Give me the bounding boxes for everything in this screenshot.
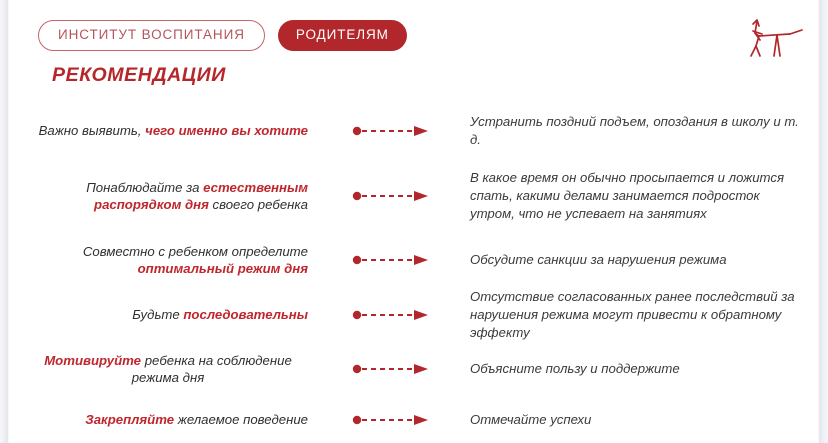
row-2-arrow	[312, 189, 470, 203]
row-6-arrow	[312, 413, 470, 427]
row-1-left-plain-0: Важно выявить,	[39, 123, 146, 138]
row-2-left-plain-2: своего ребенка	[209, 197, 308, 212]
row-1-left-highlight-1: чего именно вы хотите	[145, 123, 308, 138]
table-row: Будьте последовательны Отсутствие соглас…	[0, 286, 828, 344]
row-3-right-text: Обсудите санкции за нарушения режима	[470, 251, 828, 269]
slide-root: ИНСТИТУТ ВОСПИТАНИЯ РОДИТЕЛЯМ РЕКОМЕНДАЦ…	[0, 0, 828, 443]
row-6-left-highlight-0: Закрепляйте	[85, 412, 174, 427]
row-5-left-plain-1: ребенка на соблюдение режима дня	[132, 353, 292, 385]
table-row: Закрепляйте желаемое поведение Отмечайте…	[0, 394, 828, 443]
row-6-left-text: Закрепляйте желаемое поведение	[0, 411, 312, 428]
table-row: Совместно с ребенком определите оптималь…	[0, 234, 828, 286]
badge-institute[interactable]: ИНСТИТУТ ВОСПИТАНИЯ	[38, 20, 265, 51]
row-6-right-text: Отмечайте успехи	[470, 411, 828, 429]
row-3-left-plain-0: Совместно с ребенком определите	[83, 244, 308, 259]
row-4-arrow	[312, 308, 470, 322]
row-4-left-text: Будьте последовательны	[0, 306, 312, 323]
recommendation-rows: Важно выявить, чего именно вы хотите Уст…	[0, 104, 828, 443]
header-badges: ИНСТИТУТ ВОСПИТАНИЯ РОДИТЕЛЯМ	[38, 20, 407, 51]
row-2-right-text: В какое время он обычно просыпается и ло…	[470, 169, 828, 222]
row-2-left-text: Понаблюдайте за естественным распорядком…	[0, 179, 312, 214]
row-5-left-highlight-0: Мотивируйте	[44, 353, 141, 368]
row-5-left-text: Мотивируйте ребенка на соблюдение режима…	[0, 352, 312, 387]
table-row: Понаблюдайте за естественным распорядком…	[0, 158, 828, 234]
horse-line-art-logo-icon	[744, 12, 806, 64]
row-3-left-text: Совместно с ребенком определите оптималь…	[0, 243, 312, 278]
row-1-right-text: Устранить поздний подъем, опоздания в шк…	[470, 113, 828, 148]
row-4-right-text: Отсутствие согласованных ранее последств…	[470, 288, 828, 341]
table-row: Мотивируйте ребенка на соблюдение режима…	[0, 344, 828, 394]
row-2-left-plain-0: Понаблюдайте за	[86, 180, 203, 195]
row-4-left-plain-0: Будьте	[132, 307, 183, 322]
row-4-left-highlight-1: последовательны	[183, 307, 308, 322]
row-3-arrow	[312, 253, 470, 267]
row-6-left-plain-1: желаемое поведение	[174, 412, 308, 427]
row-5-arrow	[312, 362, 470, 376]
badge-parents[interactable]: РОДИТЕЛЯМ	[278, 20, 407, 51]
row-5-right-text: Объясните пользу и поддержите	[470, 360, 828, 378]
row-3-left-highlight-1: оптимальный режим дня	[138, 261, 308, 276]
row-1-arrow	[312, 124, 470, 138]
row-1-left-text: Важно выявить, чего именно вы хотите	[0, 122, 312, 139]
page-title: РЕКОМЕНДАЦИИ	[52, 64, 226, 87]
table-row: Важно выявить, чего именно вы хотите Уст…	[0, 104, 828, 158]
